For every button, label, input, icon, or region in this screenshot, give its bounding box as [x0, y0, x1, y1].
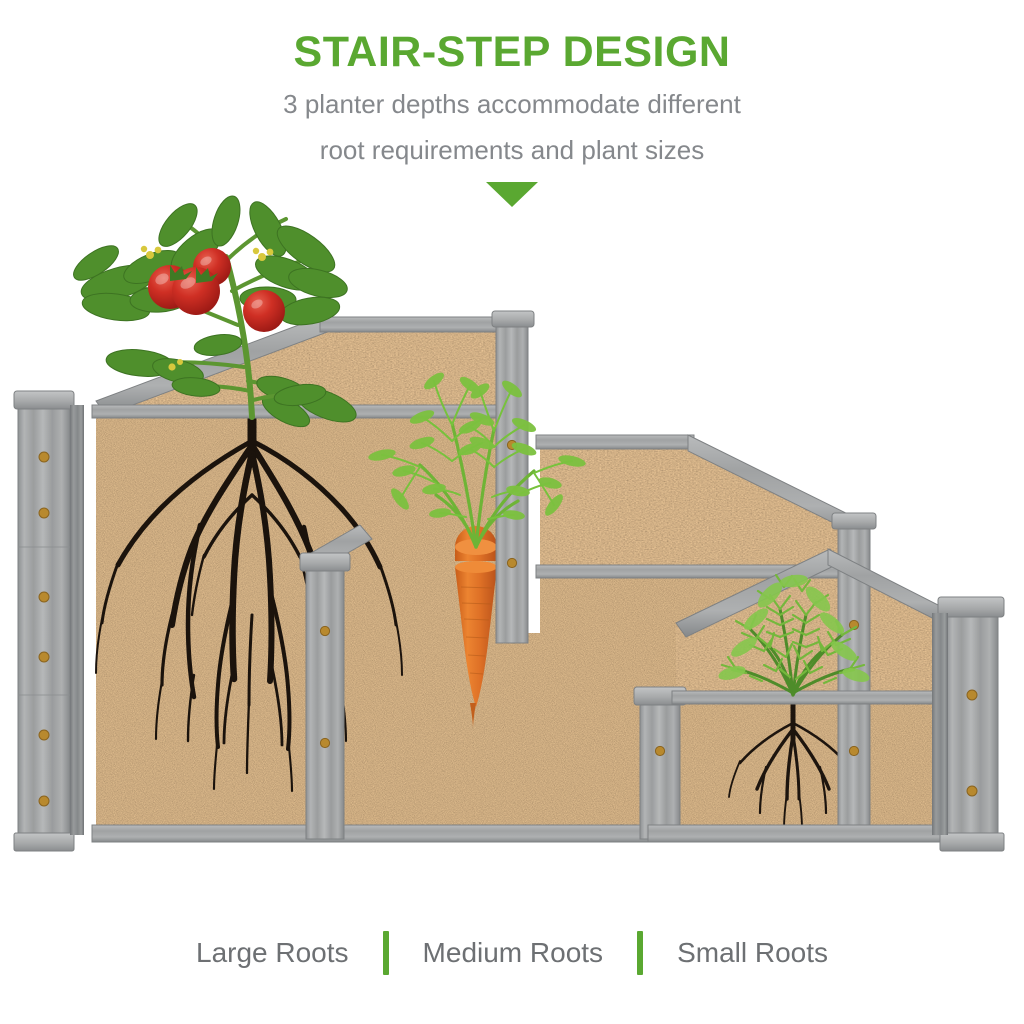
legend-item-small-roots: Small Roots — [643, 937, 862, 969]
screw-icon — [655, 746, 664, 755]
subtitle-line-1: 3 planter depths accommodate different — [0, 75, 1024, 121]
infographic-canvas: STAIR-STEP DESIGN 3 planter depths accom… — [0, 0, 1024, 1024]
page-title: STAIR-STEP DESIGN — [0, 0, 1024, 75]
subtitle-line-2: root requirements and plant sizes — [0, 121, 1024, 167]
footer-legend: Large Roots Medium Roots Small Roots — [0, 918, 1024, 988]
legend-item-large-roots: Large Roots — [162, 937, 383, 969]
header-block: STAIR-STEP DESIGN 3 planter depths accom… — [0, 0, 1024, 212]
planter-illustration — [0, 195, 1024, 895]
legend-item-medium-roots: Medium Roots — [389, 937, 638, 969]
